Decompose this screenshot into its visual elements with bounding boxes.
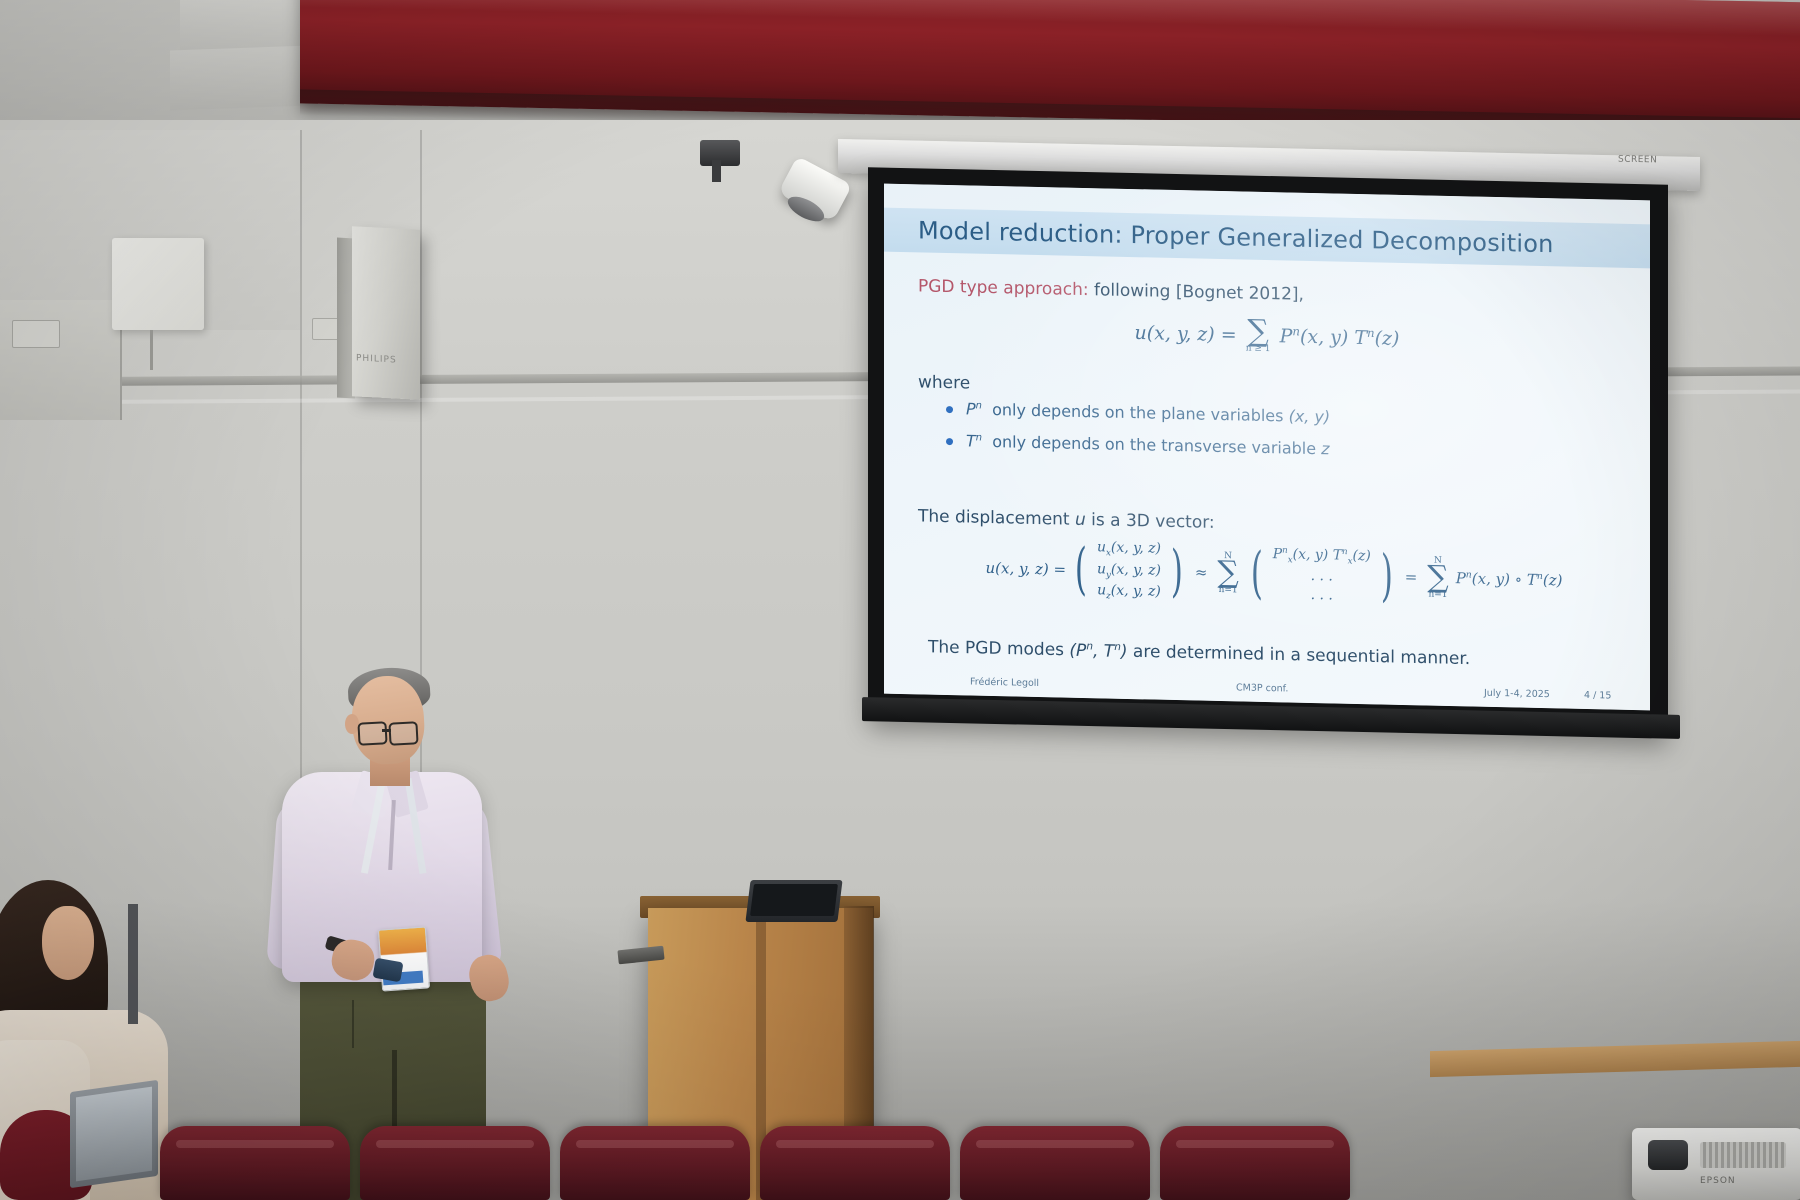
chair-back bbox=[160, 1126, 350, 1200]
audience-laptop-screen bbox=[76, 1087, 152, 1182]
bullet-symbol-p: Pn bbox=[966, 399, 982, 418]
projector-vent bbox=[1700, 1142, 1786, 1168]
wall-socket bbox=[12, 320, 60, 348]
equals-symbol: = bbox=[1405, 568, 1418, 586]
vector-row-z: uz(x, y, z) bbox=[1097, 581, 1161, 604]
footer-author: Frédéric Legoll bbox=[970, 676, 1039, 689]
sigma-glyph: ∑ bbox=[1427, 565, 1448, 590]
matrix-eq-final: Pn(x, y) ∘ Tn(z) bbox=[1456, 569, 1563, 589]
projector-brand-label: EPSON bbox=[1700, 1176, 1736, 1186]
podium-laptop-screen bbox=[750, 884, 838, 916]
chair-highlight bbox=[776, 1140, 934, 1148]
list-item: Tn only depends on the transverse variab… bbox=[940, 431, 1620, 465]
chair-back bbox=[760, 1126, 950, 1200]
wall-acoustic-panel bbox=[112, 238, 204, 330]
summation-symbol-2: N ∑ n=1 bbox=[1427, 556, 1448, 599]
summation-symbol-1: N ∑ n=1 bbox=[1217, 552, 1238, 595]
matrix-eq-lhs: u(x, y, z) = bbox=[986, 559, 1067, 579]
left-paren-1: ( bbox=[1075, 550, 1087, 591]
matrix-equation: u(x, y, z) = ( ux(x, y, z) uy(x, y, z) u… bbox=[914, 534, 1634, 614]
footer-page-number: 4 / 15 bbox=[1584, 689, 1611, 701]
eyeglasses-bridge bbox=[382, 729, 391, 732]
bullet-text-1: only depends on the plane variables (x, … bbox=[987, 400, 1330, 426]
where-label: where bbox=[918, 372, 970, 393]
main-equation: u(x, y, z) = ∑ n ≥ 1 Pn(x, y) Tn(z) bbox=[884, 312, 1650, 362]
chair-highlight bbox=[976, 1140, 1134, 1148]
ceiling-panel-secondary bbox=[170, 46, 310, 111]
chair-back bbox=[960, 1126, 1150, 1200]
bullet-symbol-t: Tn bbox=[966, 431, 982, 450]
lecture-hall-scene: PHILIPS SCREEN Model reduction: Proper G… bbox=[0, 0, 1800, 1200]
wall-cable bbox=[150, 330, 153, 370]
chair-highlight bbox=[1176, 1140, 1334, 1148]
chair-back bbox=[1160, 1126, 1350, 1200]
pgd-keyword: PGD type approach: bbox=[918, 276, 1089, 300]
right-paren-2: ) bbox=[1381, 557, 1393, 598]
vector-row-x: ux(x, y, z) bbox=[1097, 538, 1161, 561]
right-paren-1: ) bbox=[1171, 552, 1183, 593]
list-item: Pn only depends on the plane variables (… bbox=[940, 399, 1620, 433]
pgd-intro-rest: following [Bognet 2012], bbox=[1094, 280, 1304, 305]
bullet-list: Pn only depends on the plane variables (… bbox=[940, 399, 1620, 478]
projector-lens bbox=[1648, 1140, 1688, 1170]
sum2-lower-limit: n=1 bbox=[1428, 590, 1447, 599]
wall-door-panel bbox=[0, 300, 122, 420]
displacement-vector: ux(x, y, z) uy(x, y, z) uz(x, y, z) bbox=[1097, 538, 1161, 604]
mode-matrix: Pnx(x, y) Tnx(z) . . . . . . bbox=[1273, 545, 1371, 606]
vector-row-y: uy(x, y, z) bbox=[1097, 560, 1161, 583]
footer-conference: CM3P conf. bbox=[1236, 682, 1288, 694]
audience-member-face bbox=[42, 906, 94, 980]
summation-symbol: ∑ n ≥ 1 bbox=[1246, 320, 1271, 354]
left-paren-2: ( bbox=[1251, 554, 1263, 595]
projection-surface: Model reduction: Proper Generalized Deco… bbox=[884, 184, 1650, 711]
matrix-row-1: Pnx(x, y) Tnx(z) bbox=[1273, 545, 1371, 569]
track-light-arm bbox=[712, 160, 721, 182]
presentation-slide: Model reduction: Proper Generalized Deco… bbox=[884, 184, 1650, 711]
matrix-row-2: . . . bbox=[1311, 567, 1333, 586]
eyeglasses-left-lens bbox=[357, 721, 387, 745]
audience-monitor-stand bbox=[128, 904, 138, 1024]
wall-socket-secondary bbox=[312, 318, 340, 340]
chair-back bbox=[360, 1126, 550, 1200]
screen-case-label: SCREEN bbox=[1618, 155, 1657, 166]
final-statement: The PGD modes (Pn, Tn) are determined in… bbox=[928, 637, 1470, 669]
ceiling-panel bbox=[180, 0, 300, 52]
sigma-glyph: ∑ bbox=[1247, 320, 1268, 345]
slide-intro-line: PGD type approach: following [Bognet 201… bbox=[918, 276, 1304, 304]
chair-highlight bbox=[376, 1140, 534, 1148]
bullet-text-2: only depends on the transverse variable … bbox=[987, 432, 1329, 458]
approx-symbol: ≈ bbox=[1195, 564, 1208, 582]
main-eq-rhs: Pn(x, y) Tn(z) bbox=[1280, 325, 1400, 350]
displacement-label: The displacement u is a 3D vector: bbox=[918, 506, 1215, 532]
footer-date: July 1-4, 2025 bbox=[1484, 687, 1550, 699]
matrix-row-3: . . . bbox=[1311, 586, 1333, 605]
sum-lower-limit: n ≥ 1 bbox=[1246, 344, 1271, 354]
wall-speaker bbox=[352, 226, 420, 400]
eyeglasses-right-lens bbox=[388, 721, 418, 745]
sum1-lower-limit: n=1 bbox=[1219, 586, 1238, 595]
presenter-pocket bbox=[312, 1000, 354, 1048]
slide-body: PGD type approach: following [Bognet 201… bbox=[884, 184, 1650, 711]
chair-highlight bbox=[176, 1140, 334, 1148]
chair-highlight bbox=[576, 1140, 734, 1148]
chair-back bbox=[560, 1126, 750, 1200]
main-eq-lhs: u(x, y, z) = bbox=[1135, 322, 1237, 346]
sigma-glyph: ∑ bbox=[1217, 561, 1238, 586]
